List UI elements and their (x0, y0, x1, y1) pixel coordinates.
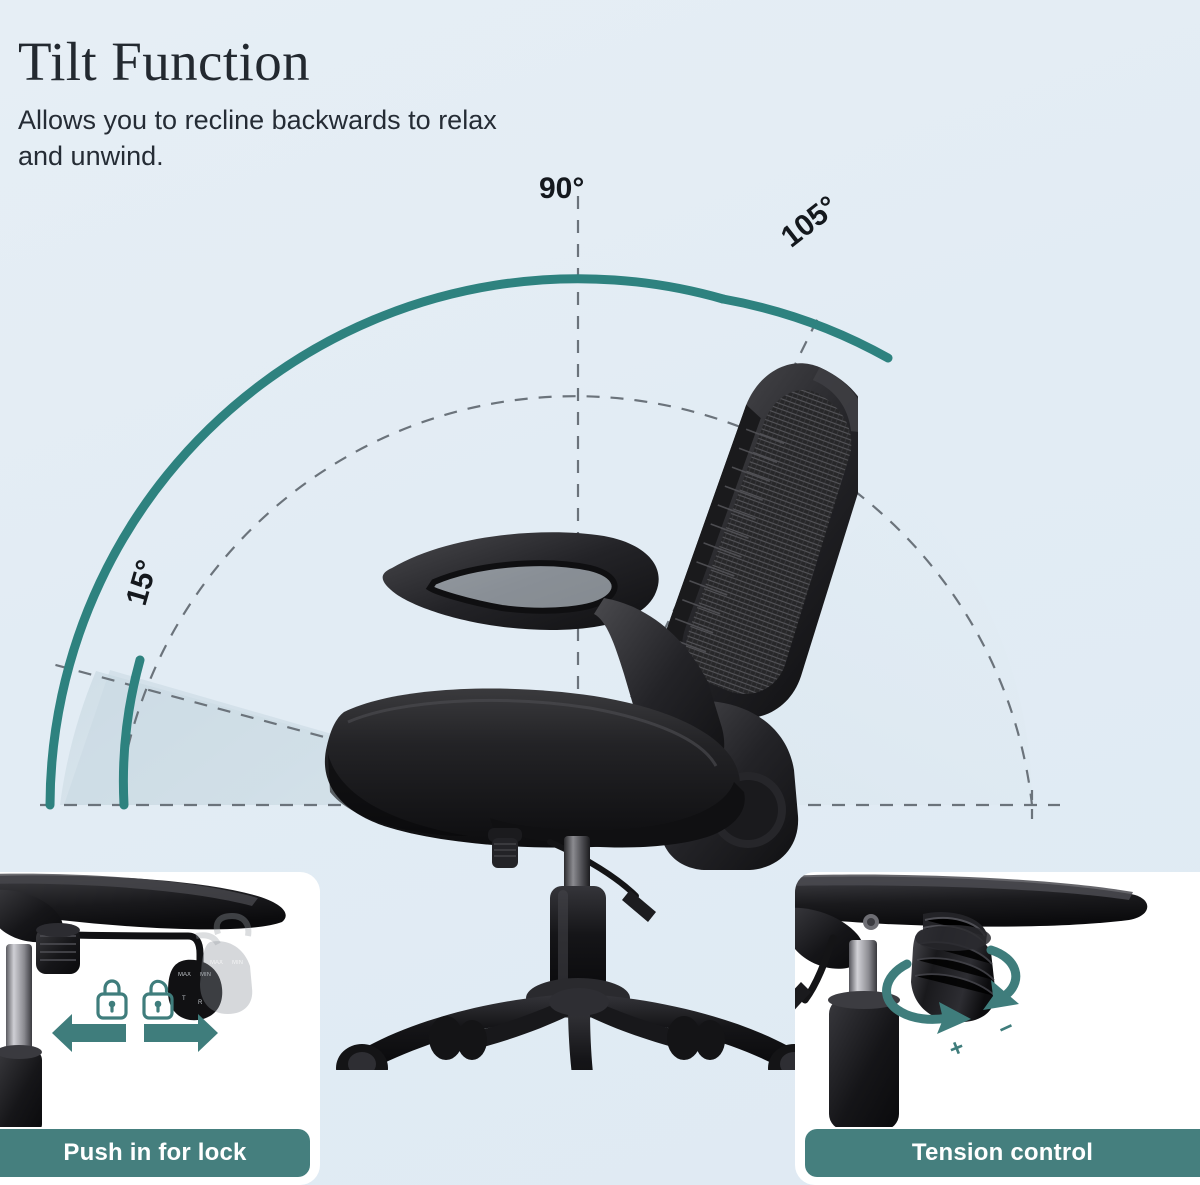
gas-cylinder-shaft (564, 836, 590, 892)
panel-photo-tension: + − (795, 872, 1200, 1127)
tension-knob[interactable] (911, 912, 996, 1022)
svg-text:MAX: MAX (178, 972, 191, 978)
tilt-lever-tip (622, 890, 656, 922)
lock-open-icon (144, 981, 172, 1018)
gas-cylinder (6, 944, 32, 1054)
caster-wheel (695, 1020, 725, 1060)
knurled-knob (36, 923, 80, 974)
caster-wheel (457, 1020, 487, 1060)
svg-text:MAX: MAX (210, 960, 223, 966)
tension-closeup-svg: + − (795, 872, 1200, 1127)
infographic-root: Tilt Function Allows you to recline back… (0, 0, 1200, 1185)
lock-paddle-released-ghost: MAXMIN (200, 916, 252, 1014)
lock-closed-icon (98, 981, 126, 1018)
arrow-left-icon (52, 1014, 126, 1052)
panel-push-in-for-lock[interactable]: MAXMIN TR MAXMIN (0, 872, 320, 1185)
cylinder-cover (829, 998, 899, 1127)
panel-photo-lock: MAXMIN TR MAXMIN (0, 872, 320, 1127)
svg-text:R: R (198, 1000, 203, 1006)
height-adjust-knob (488, 828, 522, 868)
panel-tension-control[interactable]: + − Tension control (795, 872, 1200, 1185)
panel-caption-tension: Tension control (805, 1129, 1200, 1177)
svg-text:T: T (182, 996, 186, 1002)
office-chair-svg (318, 330, 858, 1070)
chair-base (336, 978, 820, 1070)
office-chair-illustration (318, 330, 858, 1070)
arrow-right-icon (144, 1014, 218, 1052)
plus-icon: + (945, 1033, 968, 1063)
panel-caption-lock: Push in for lock (0, 1129, 310, 1177)
angle-label-90: 90° (539, 172, 584, 206)
minus-icon: − (994, 1013, 1018, 1043)
svg-text:MIN: MIN (232, 960, 243, 966)
lock-closeup-svg: MAXMIN TR MAXMIN (0, 872, 320, 1127)
cylinder-base (0, 1050, 42, 1127)
